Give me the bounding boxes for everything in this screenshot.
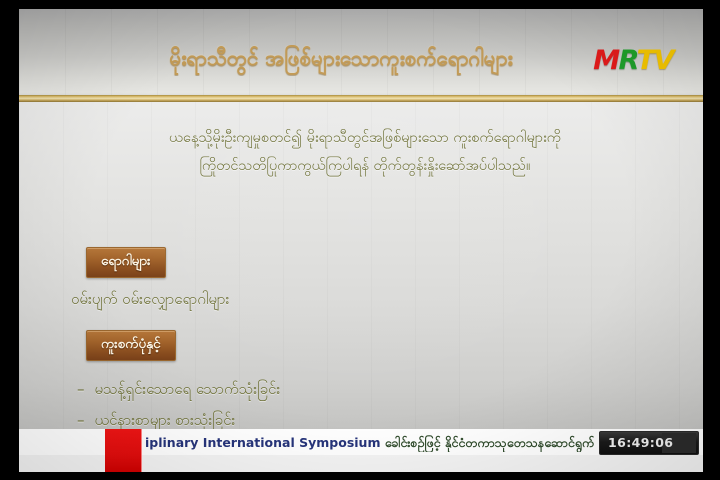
video-picture-area: မိုးရာသီတွင် အဖြစ်များသောကူးစက်ရောဂါများ… [19,9,703,472]
ticker-red-marker [105,429,141,472]
intro-line-2: ကြိုတင်သတိပြုကာကွယ်ကြပါရန် တိုက်တွန်းနှိ… [65,152,665,180]
list-item-label: မသန့်ရှင်းသောရေ သောက်သုံးခြင်း [95,380,281,398]
tv-broadcast-frame: မိုးရာသီတွင် အဖြစ်များသောကူးစက်ရောဂါများ… [0,0,720,480]
gold-divider-rule [19,95,703,102]
diseases-detail-text: ဝမ်းပျက် ဝမ်းလျှောရောဂါများ [71,290,229,312]
clock-time: 16:49:06 [608,435,673,450]
logo-letter-m: M [593,45,618,76]
ticker-headline-english: iplinary International Symposium [145,435,385,450]
bullet-dash-icon: – [77,380,85,398]
ticker-headline-burmese: ခေါင်းစဉ်ဖြင့် နိုင်ငံတကာသုတေသနဆောင်ရွက် [385,435,594,450]
bullet-dash-icon: – [77,411,85,429]
list-item-label: ယင်နားစာများ စားသုံးခြင်း [95,411,236,429]
ticker-headline: iplinary International Symposium ခေါင်းစ… [145,433,615,452]
intro-line-1: ယနေ့သို့မိုးဦးကျမှုစတင်၍ မိုးရာသီတွင်အဖြ… [169,130,561,146]
section-chip-diseases: ရောဂါများ [86,247,166,278]
clock-badge: 16:49:06 [599,431,699,455]
news-ticker-bar: iplinary International Symposium ခေါင်းစ… [19,429,703,472]
content-panel: ယနေ့သို့မိုးဦးကျမှုစတင်၍ မိုးရာသီတွင်အဖြ… [19,102,703,429]
logo-letters-tv: TV [637,45,673,76]
logo-letter-r: R [619,45,637,76]
mrtv-logo: MRTV [593,47,673,74]
list-item: –မသန့်ရှင်းသောရေ သောက်သုံးခြင်း [77,374,280,405]
intro-paragraph: ယနေ့သို့မိုးဦးကျမှုစတင်၍ မိုးရာသီတွင်အဖြ… [65,124,665,180]
transmission-bullet-list: –မသန့်ရှင်းသောရေ သောက်သုံးခြင်း –ယင်နားစ… [77,374,280,436]
header-band: မိုးရာသီတွင် အဖြစ်များသောကူးစက်ရောဂါများ… [19,9,703,95]
section-chip-transmission: ကူးစက်ပုံနှင့် [86,330,176,361]
